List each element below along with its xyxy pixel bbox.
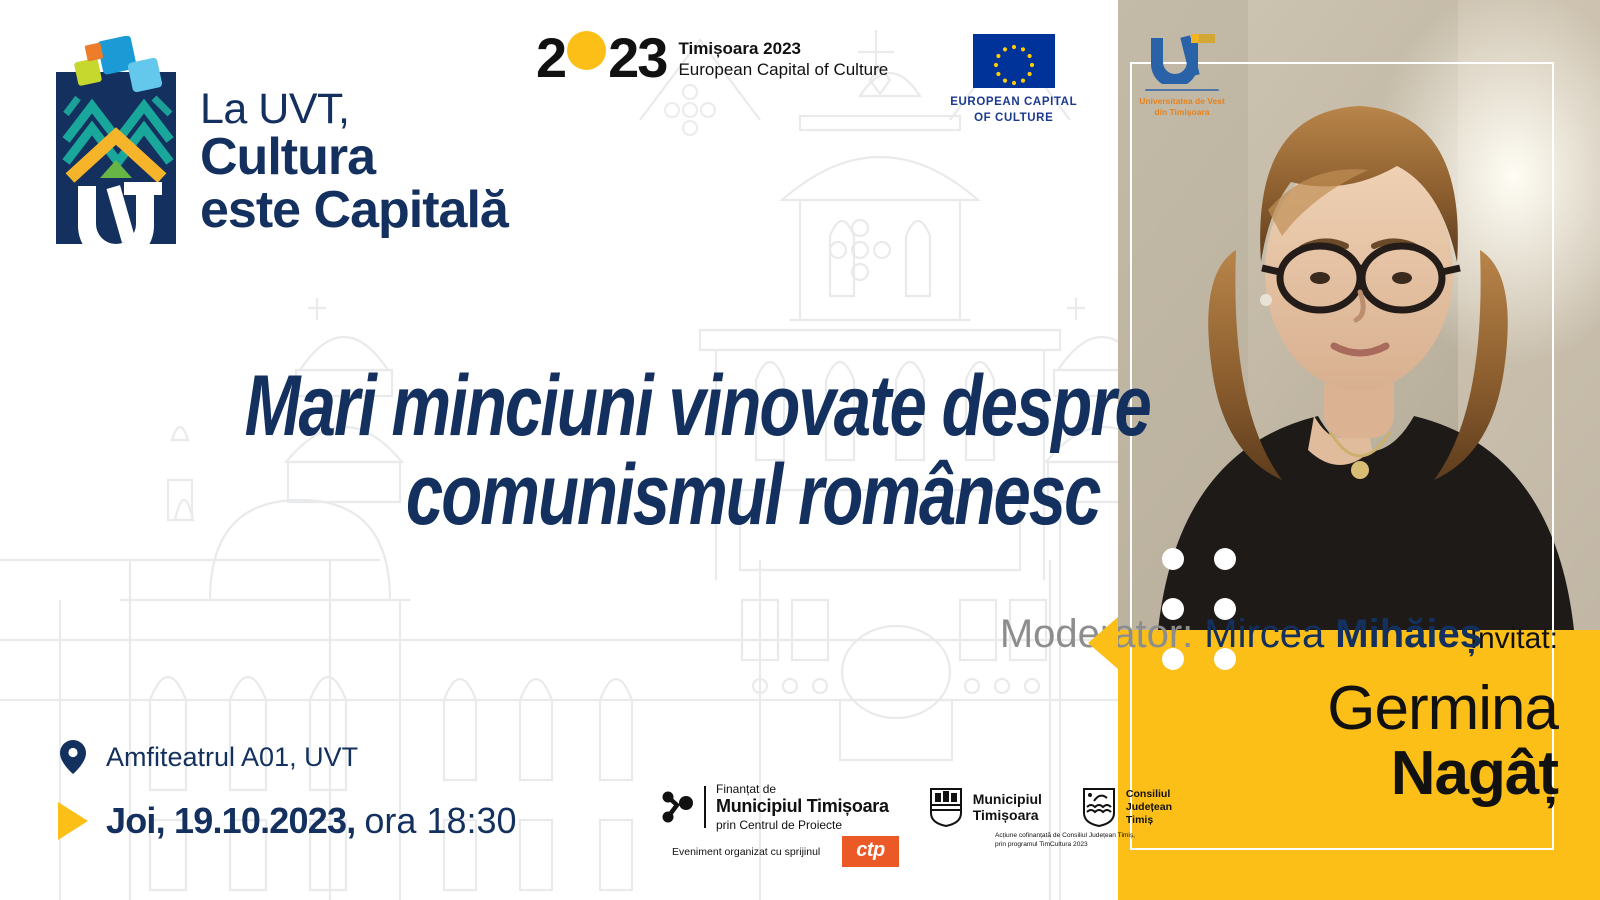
european-capital-of-culture-logo: EUROPEAN CAPITAL OF CULTURE (950, 30, 1077, 126)
event-date: Joi, 19.10.2023, (106, 800, 355, 842)
eu-flag-icon (973, 34, 1055, 88)
uvt-caption: Universitatea de Vest din Timișoara (1139, 96, 1225, 118)
event-title-line-1: Mari minciuni vinovate despre (245, 362, 1100, 451)
datetime-row: Joi, 19.10.2023, ora 18:30 (58, 800, 517, 842)
event-title-line-2: comunismul românesc (245, 451, 1100, 540)
datetime-text: Joi, 19.10.2023, ora 18:30 (106, 800, 517, 842)
venue-text: Amfiteatrul A01, UVT (106, 742, 358, 773)
brand-line-1: La UVT, (200, 88, 508, 130)
guest-first-name: Germina (1327, 676, 1558, 741)
dot (1162, 548, 1184, 570)
county-line-1: Consiliul (1126, 788, 1172, 801)
county-line-3: Timiș (1126, 814, 1172, 827)
municipiul-timisoara-funding-logo: Finanțat de Municipiul Timișoara prin Ce… (660, 782, 889, 832)
municipiul-timisoara-crest-logo: Municipiul Timișoara (929, 787, 1042, 827)
uvt-university-logo: Universitatea de Vest din Timișoara (1139, 30, 1225, 118)
timis-county-crest-icon (1082, 787, 1116, 827)
event-time: ora 18:30 (364, 800, 516, 842)
brand-line-3: este Capitală (200, 185, 508, 236)
moderator-line: Moderator: Mircea Mihăieș (1000, 612, 1482, 657)
ecoc-caption-line2: European Capital of Culture (678, 60, 888, 81)
moderator-last-name: Mihăieș (1335, 612, 1482, 657)
funder-line-3: prin Centrul de Proiecte (716, 818, 889, 832)
uvt-monogram-icon (1145, 32, 1219, 84)
map-pin-icon (60, 740, 86, 774)
uvt-caption-line2: din Timișoara (1139, 107, 1225, 118)
centru-proiecte-icon (660, 790, 694, 824)
support-label: Eveniment organizat cu sprijinul (672, 846, 820, 858)
ctp-sponsor-logo: ctp (842, 836, 899, 867)
eu-caption-line2: OF CULTURE (950, 111, 1077, 127)
support-row: Eveniment organizat cu sprijinul ctp (672, 836, 899, 867)
uvt-brand-lockup: La UVT, Cultura este Capitală (52, 36, 508, 246)
funder-caption: Finanțat de Municipiul Timișoara prin Ce… (716, 782, 889, 832)
partner-logo-strip: 2 23 Timișoara 2023 European Capital of … (536, 30, 1225, 126)
city-caption: Municipiul Timișoara (973, 791, 1042, 824)
ecoc-caption-line1: Timișoara 2023 (678, 39, 888, 60)
play-triangle-icon (58, 802, 88, 840)
uvt-divider (1145, 89, 1219, 91)
eu-caption: EUROPEAN CAPITAL OF CULTURE (950, 95, 1077, 126)
left-triangle-icon (1088, 617, 1118, 669)
event-title: Mari minciuni vinovate despre comunismul… (245, 362, 1112, 541)
ecoc-digit-2: 2 (536, 30, 565, 86)
uvt-logo-icon (52, 36, 180, 246)
venue-row: Amfiteatrul A01, UVT (60, 740, 358, 774)
moderator-first-name: Mircea (1204, 612, 1324, 657)
county-caption: Consiliul Județean Timiș (1126, 788, 1172, 827)
ecoc-year-mark: 2 23 (536, 30, 666, 86)
funder-divider (704, 786, 706, 828)
guest-last-name: Nagâț (1327, 741, 1558, 806)
city-line-1: Municipiul (973, 791, 1042, 808)
county-line-2: Județean (1126, 801, 1172, 814)
eu-caption-line1: EUROPEAN CAPITAL (950, 95, 1077, 111)
brand-wordmark: La UVT, Cultura este Capitală (200, 36, 508, 236)
funder-line-2: Municipiul Timișoara (716, 796, 889, 818)
event-poster: La UVT, Cultura este Capitală 2 23 Timiș… (0, 0, 1600, 900)
funder-logo-row: Finanțat de Municipiul Timișoara prin Ce… (660, 782, 1172, 832)
guest-panel: Invitat: Germina Nagâț (1118, 0, 1600, 900)
dot (1214, 548, 1236, 570)
uvt-caption-line1: Universitatea de Vest (1139, 96, 1225, 107)
brand-line-2: Cultura (200, 132, 508, 183)
ecoc-digit-23: 23 (608, 30, 666, 86)
consiliul-judetean-timis-logo: Consiliul Județean Timiș (1082, 787, 1172, 827)
timisoara-crest-icon (929, 787, 963, 827)
funder-line-1: Finanțat de (716, 782, 889, 796)
cofinancing-note: Acțiune cofinanțată de Consiliul Județea… (995, 832, 1145, 850)
ecoc-2023-logo: 2 23 Timișoara 2023 European Capital of … (536, 30, 888, 86)
city-line-2: Timișoara (973, 807, 1042, 824)
yellow-dot-icon (567, 31, 606, 70)
ecoc-caption: Timișoara 2023 European Capital of Cultu… (678, 35, 888, 80)
